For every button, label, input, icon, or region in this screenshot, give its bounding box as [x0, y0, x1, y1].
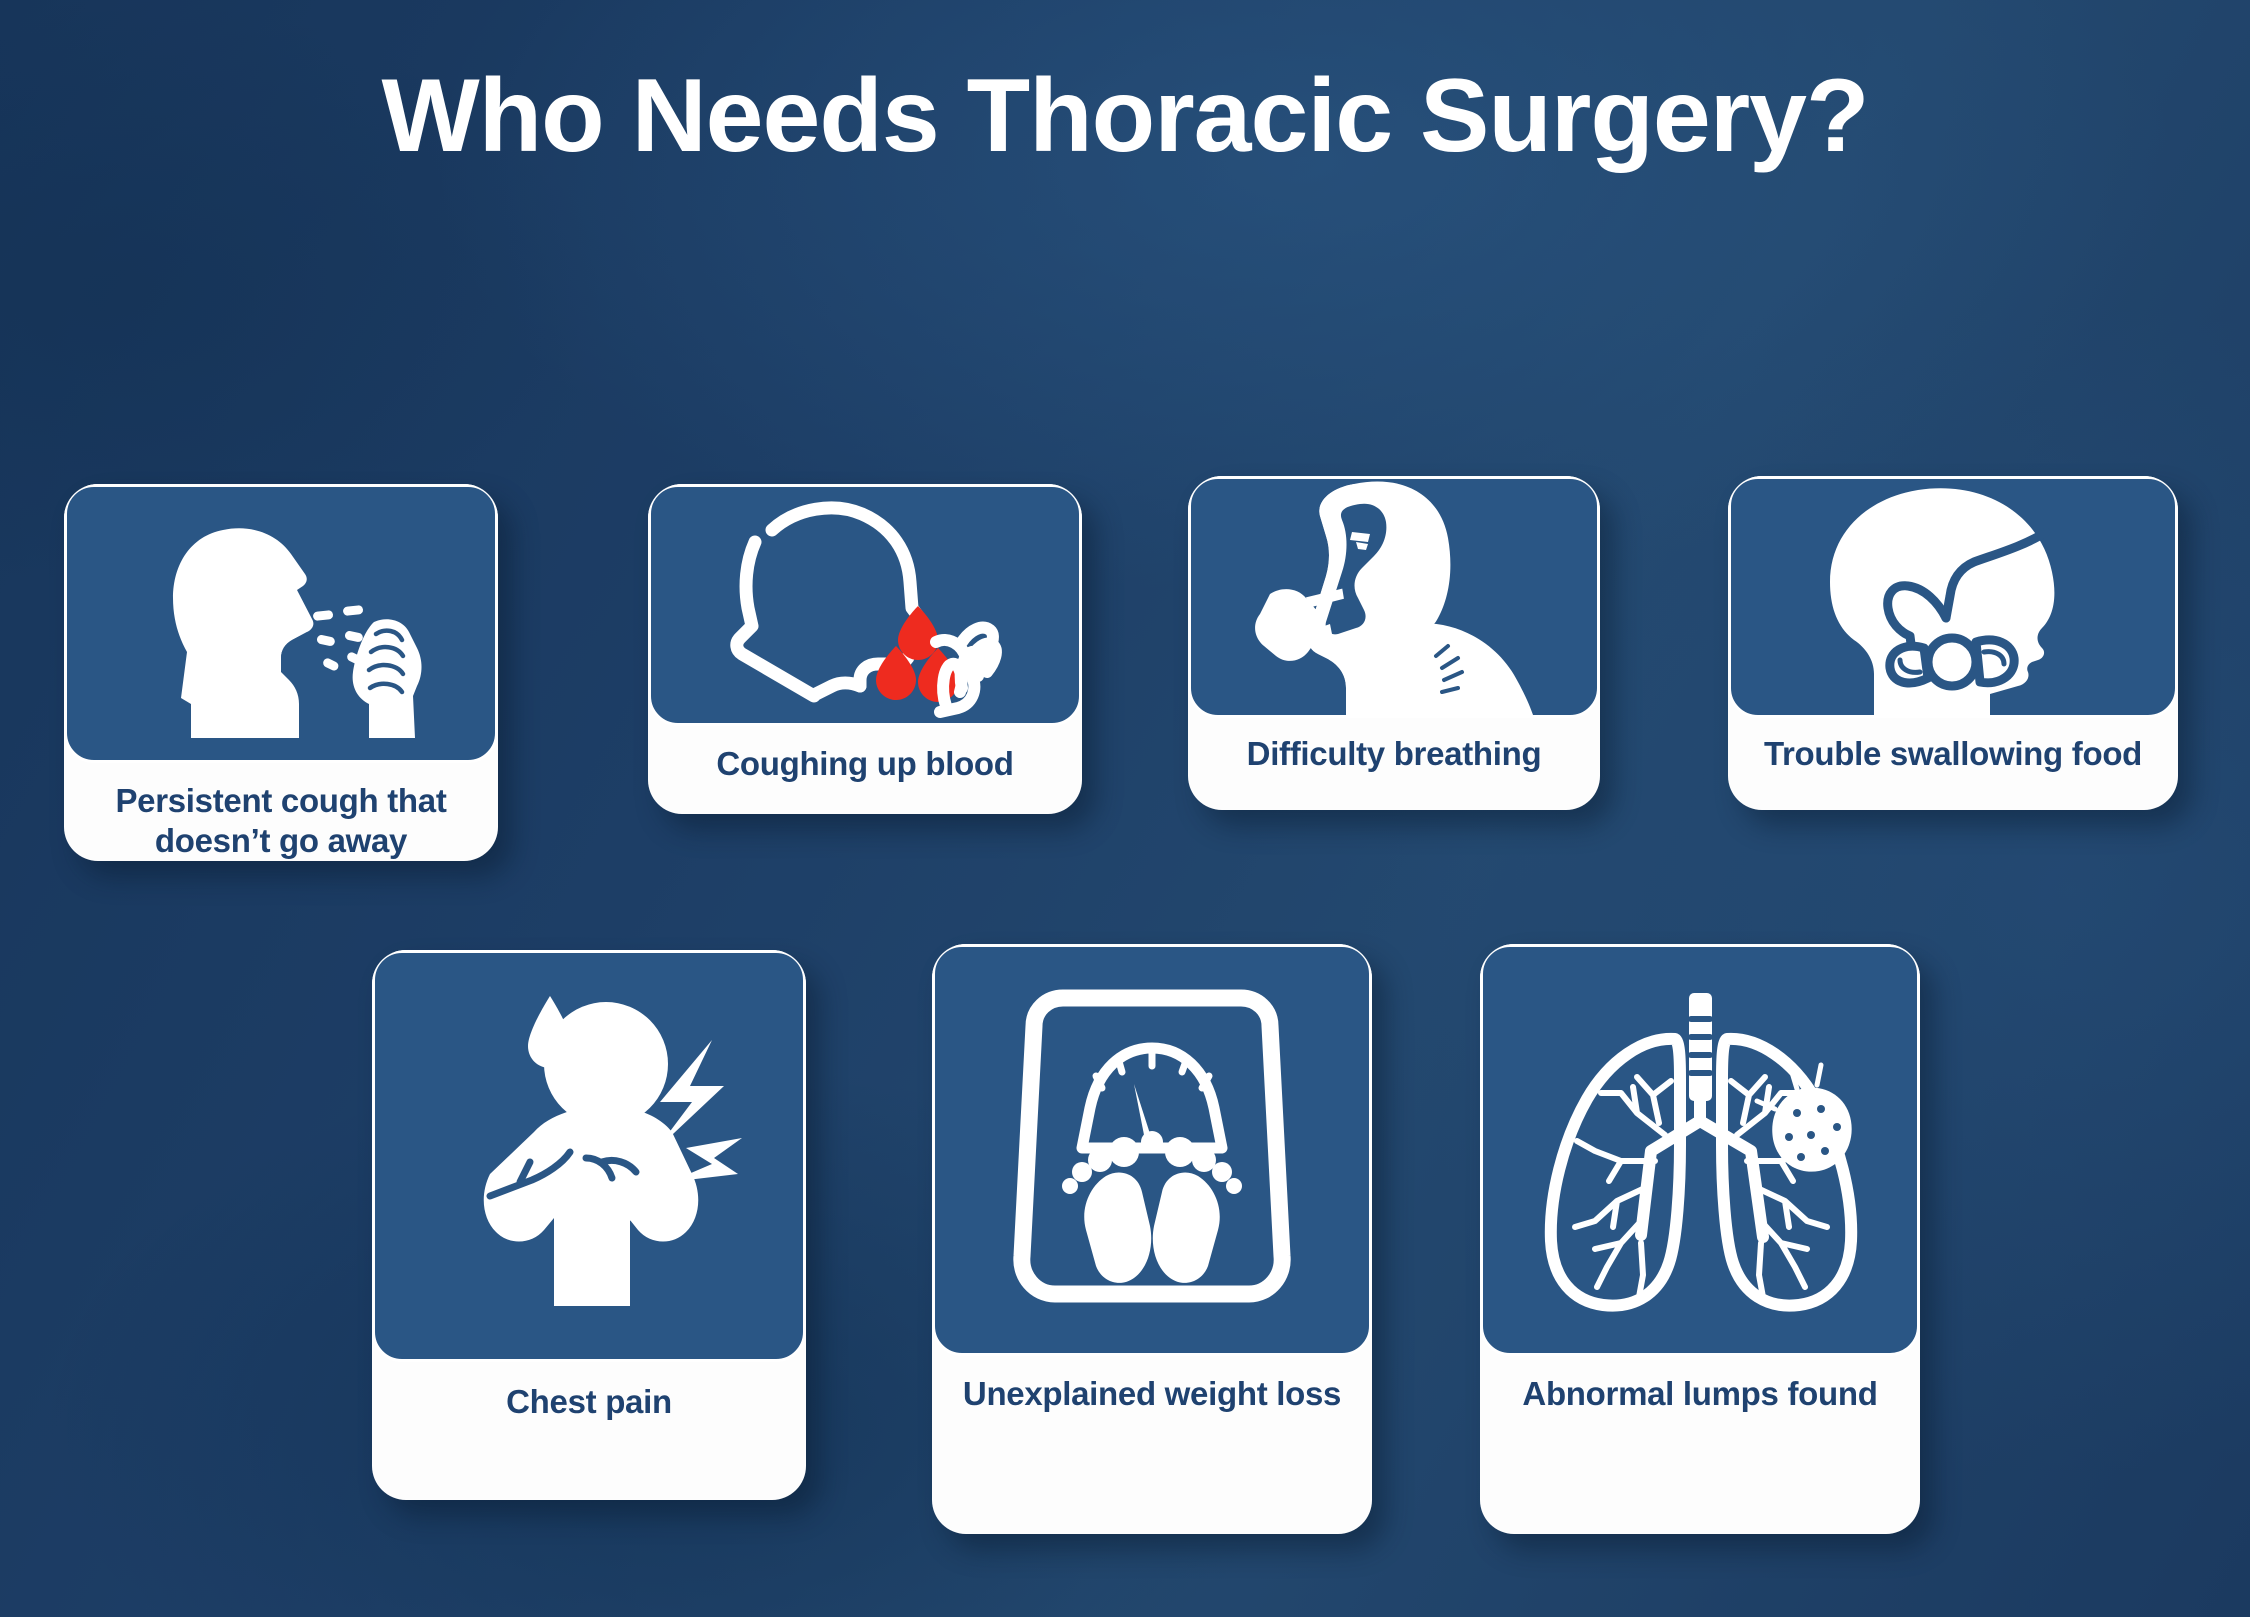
card-weight-loss[interactable]: Unexplained weight loss	[932, 944, 1372, 1534]
card-persistent-cough[interactable]: Persistent cough that doesn’t go away	[64, 484, 498, 861]
icon-tile-weight-loss	[932, 944, 1372, 1356]
card-label-difficulty-breathing: Difficulty breathing	[1188, 718, 1600, 774]
card-label-chest-pain: Chest pain	[372, 1362, 806, 1422]
icon-tile-persistent-cough	[64, 484, 498, 763]
card-label-trouble-swallowing: Trouble swallowing food	[1728, 718, 2178, 774]
icon-tile-difficulty-breathing	[1188, 476, 1600, 718]
card-label-abnormal-lumps: Abnormal lumps found	[1480, 1356, 1920, 1414]
card-label-persistent-cough: Persistent cough that doesn’t go away	[64, 763, 498, 862]
coughing-blood-icon	[710, 490, 1020, 720]
icon-tile-chest-pain	[372, 950, 806, 1362]
icon-tile-abnormal-lumps	[1480, 944, 1920, 1356]
chest-pain-icon	[424, 986, 754, 1326]
lungs-tumor-icon	[1525, 975, 1875, 1325]
infographic-page: Who Needs Thoracic Surgery?	[0, 0, 2250, 1617]
throat-blockage-icon	[1788, 476, 2118, 718]
icon-tile-trouble-swallowing	[1728, 476, 2178, 718]
difficulty-breathing-icon	[1234, 476, 1554, 718]
card-difficulty-breathing[interactable]: Difficulty breathing	[1188, 476, 1600, 810]
card-abnormal-lumps[interactable]: Abnormal lumps found	[1480, 944, 1920, 1534]
card-label-weight-loss: Unexplained weight loss	[932, 1356, 1372, 1414]
coughing-person-icon	[131, 498, 431, 748]
card-coughing-blood[interactable]: Coughing up blood	[648, 484, 1082, 814]
card-trouble-swallowing[interactable]: Trouble swallowing food	[1728, 476, 2178, 810]
card-label-coughing-blood: Coughing up blood	[648, 726, 1082, 784]
card-chest-pain[interactable]: Chest pain	[372, 950, 806, 1500]
weight-scale-icon	[982, 980, 1322, 1320]
page-title: Who Needs Thoracic Surgery?	[0, 58, 2250, 174]
icon-tile-coughing-blood	[648, 484, 1082, 726]
